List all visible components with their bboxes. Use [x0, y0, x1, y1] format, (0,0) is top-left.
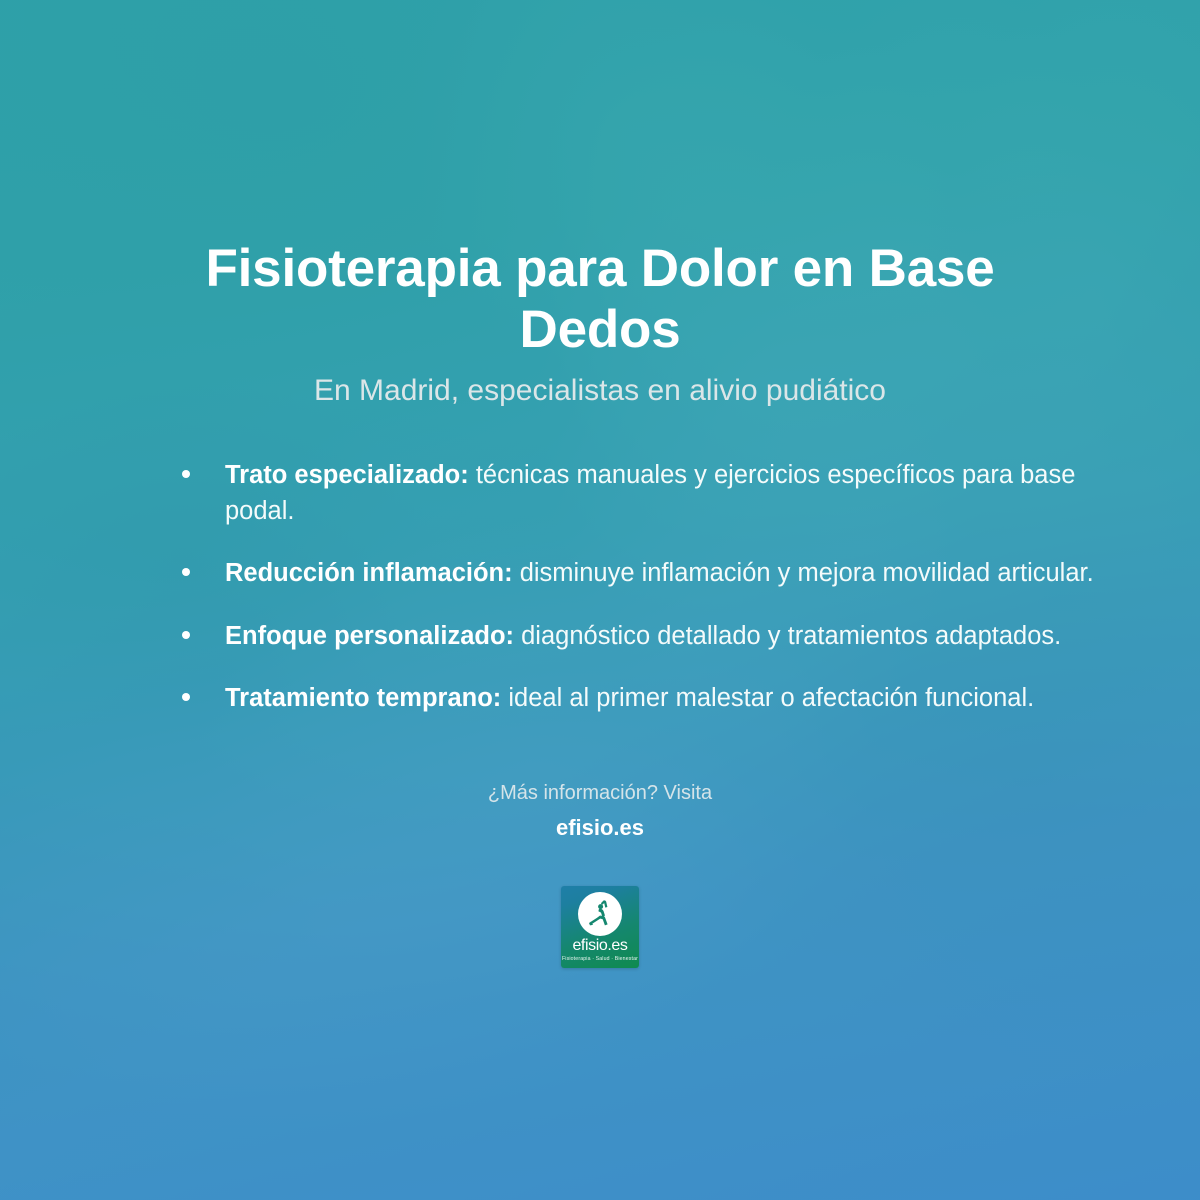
- benefits-list: Trato especializado: técnicas manuales y…: [95, 457, 1105, 716]
- list-item: Enfoque personalizado: diagnóstico detal…: [170, 618, 1105, 654]
- benefit-description: ideal al primer malestar o afectación fu…: [501, 684, 1034, 712]
- logo-tagline: Fisioterapia · Salud · Bienestar: [562, 957, 638, 962]
- page-title: Fisioterapia para Dolor en Base Dedos: [150, 238, 1050, 361]
- brand-logo-wrapper: efisio.es Fisioterapia · Salud · Bienest…: [561, 886, 639, 968]
- benefit-term: Reducción inflamación:: [225, 559, 513, 587]
- benefit-term: Tratamiento temprano:: [225, 684, 501, 712]
- logo-wordmark: efisio.es: [572, 938, 627, 954]
- climbing-stretch-figure-icon: [578, 892, 622, 936]
- list-item: Tratamiento temprano: ideal al primer ma…: [170, 680, 1105, 716]
- benefit-description: disminuye inflamación y mejora movilidad…: [513, 559, 1094, 587]
- headline-block: Fisioterapia para Dolor en Base Dedos En…: [150, 238, 1050, 409]
- list-item: Trato especializado: técnicas manuales y…: [170, 457, 1105, 529]
- benefit-description: diagnóstico detallado y tratamientos ada…: [514, 622, 1061, 650]
- page-subtitle: En Madrid, especialistas en alivio pudiá…: [150, 373, 1050, 409]
- call-to-action: ¿Más información? Visita efisio.es: [488, 778, 712, 844]
- cta-website-link[interactable]: efisio.es: [488, 813, 712, 844]
- cta-prompt-text: ¿Más información? Visita: [488, 778, 712, 809]
- list-item: Reducción inflamación: disminuye inflama…: [170, 555, 1105, 591]
- bullet-dot-icon: [182, 631, 190, 639]
- poster-content: Fisioterapia para Dolor en Base Dedos En…: [0, 0, 1200, 1200]
- promo-poster: Fisioterapia para Dolor en Base Dedos En…: [0, 0, 1200, 1200]
- bullet-dot-icon: [182, 470, 190, 478]
- benefit-term: Trato especializado:: [225, 461, 469, 489]
- efisio-logo[interactable]: efisio.es Fisioterapia · Salud · Bienest…: [561, 886, 639, 968]
- bullet-dot-icon: [182, 568, 190, 576]
- benefit-term: Enfoque personalizado:: [225, 622, 514, 650]
- bullet-dot-icon: [182, 693, 190, 701]
